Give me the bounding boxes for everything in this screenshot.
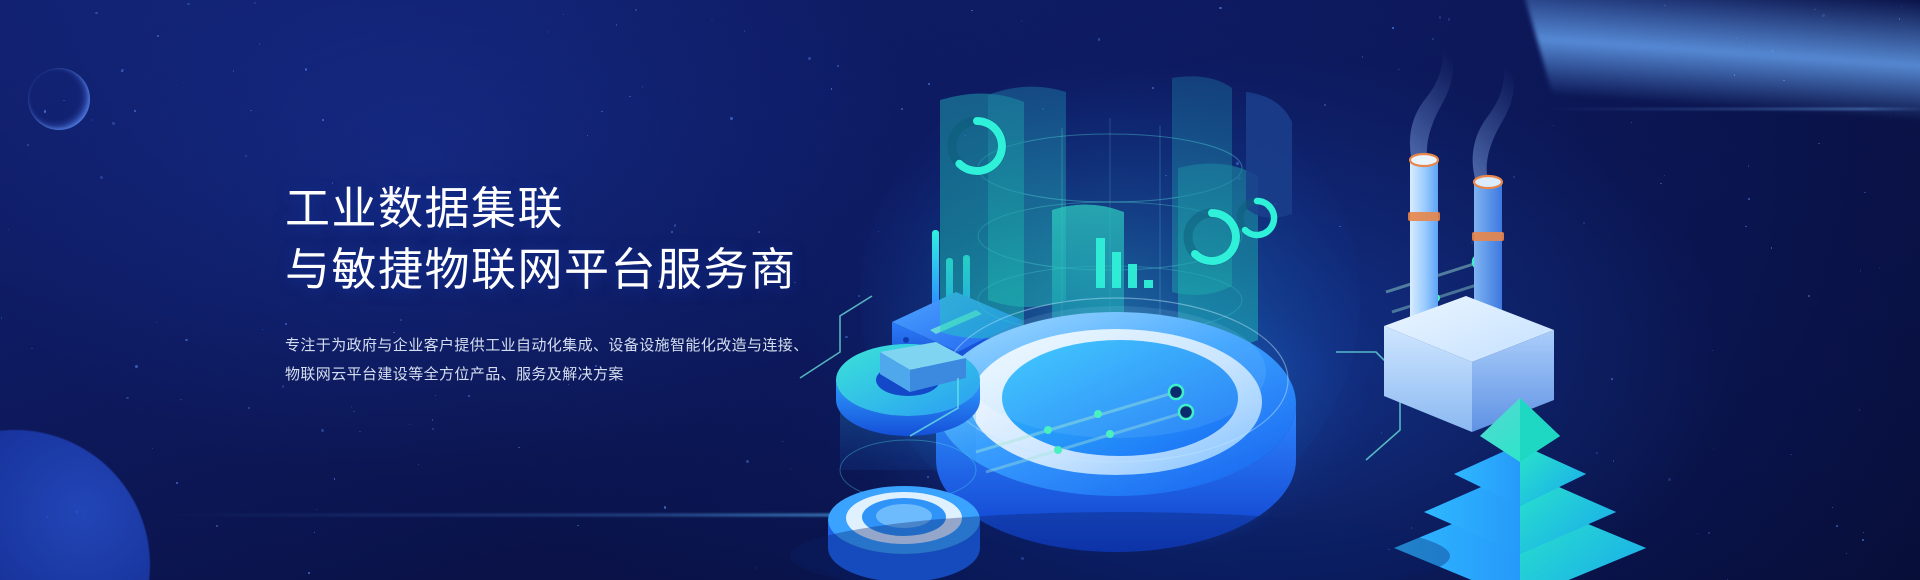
crescent-moon-icon (28, 68, 90, 130)
planet-icon (0, 430, 150, 580)
hero-subtitle: 专注于为政府与企业客户提供工业自动化集成、设备设施智能化改造与连接、 物联网云平… (285, 331, 905, 390)
subtitle-line-1: 专注于为政府与企业客户提供工业自动化集成、设备设施智能化改造与连接、 (285, 331, 905, 360)
hero-banner: 工业数据集联 与敏捷物联网平台服务商 专注于为政府与企业客户提供工业自动化集成、… (0, 0, 1920, 580)
factory-smokestack-icon (1384, 28, 1554, 432)
iot-industrial-isometric-illustration (780, 0, 1920, 580)
subtitle-line-2: 物联网云平台建设等全方位产品、服务及解决方案 (285, 360, 905, 389)
page-title: 工业数据集联 与敏捷物联网平台服务商 (285, 178, 905, 300)
headline-line-2: 与敏捷物联网平台服务商 (285, 239, 905, 300)
headline-line-1: 工业数据集联 (285, 178, 905, 239)
hero-copy: 工业数据集联 与敏捷物联网平台服务商 专注于为政府与企业客户提供工业自动化集成、… (285, 148, 905, 389)
